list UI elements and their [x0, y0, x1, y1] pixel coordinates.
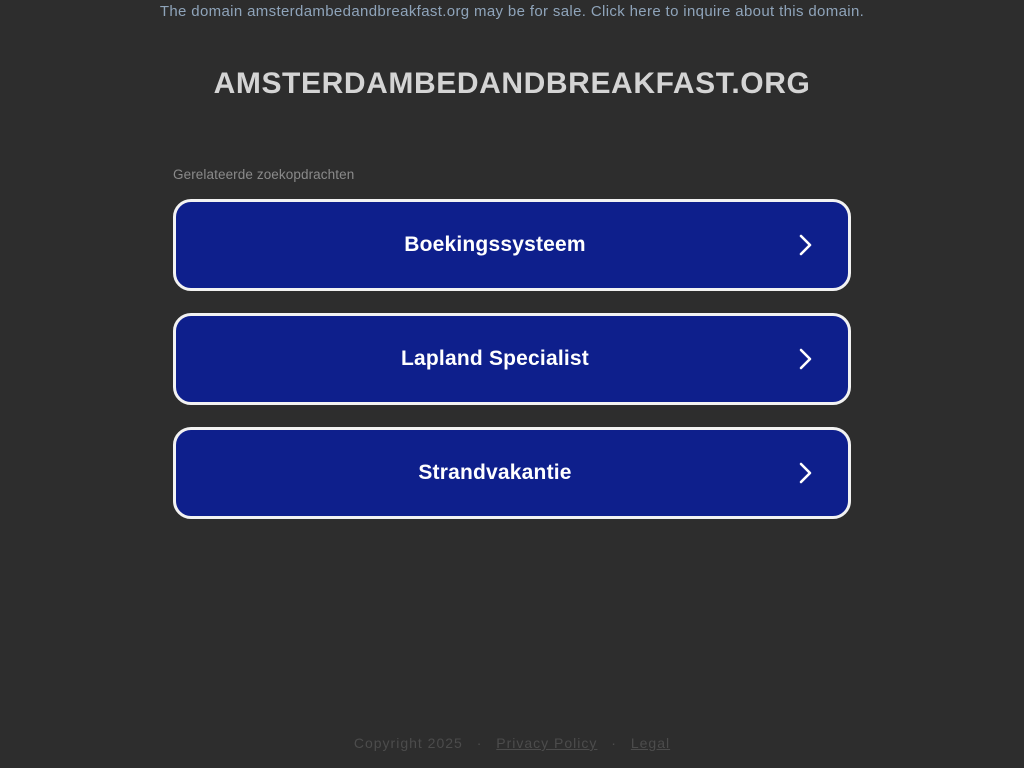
related-search-button-2[interactable]: Lapland Specialist [173, 313, 851, 405]
chevron-right-icon [797, 459, 815, 487]
footer-separator-2: · [611, 734, 617, 752]
related-search-button-3[interactable]: Strandvakantie [173, 427, 851, 519]
related-search-label-1: Boekingssysteem [176, 202, 848, 288]
footer: Copyright 2025 · Privacy Policy · Legal [0, 734, 1024, 752]
chevron-right-icon [797, 345, 815, 373]
related-searches-list: Boekingssysteem Lapland Specialist Stran… [173, 199, 851, 519]
footer-privacy-policy-link[interactable]: Privacy Policy [496, 734, 597, 752]
related-search-button-1[interactable]: Boekingssysteem [173, 199, 851, 291]
footer-copyright: Copyright 2025 [354, 734, 463, 752]
chevron-right-icon [797, 231, 815, 259]
page-title: AMSTERDAMBEDANDBREAKFAST.ORG [214, 66, 811, 102]
related-searches-section: Gerelateerde zoekopdrachten [173, 166, 851, 184]
footer-separator-1: · [477, 734, 483, 752]
related-search-label-3: Strandvakantie [176, 430, 848, 516]
related-search-label-2: Lapland Specialist [176, 316, 848, 402]
for-sale-banner-text[interactable]: The domain amsterdambedandbreakfast.org … [160, 3, 864, 21]
footer-legal-link[interactable]: Legal [631, 734, 670, 752]
page-title-container: AMSTERDAMBEDANDBREAKFAST.ORG [0, 66, 1024, 102]
related-searches-label: Gerelateerde zoekopdrachten [173, 166, 851, 184]
for-sale-banner[interactable]: The domain amsterdambedandbreakfast.org … [0, 0, 1024, 21]
